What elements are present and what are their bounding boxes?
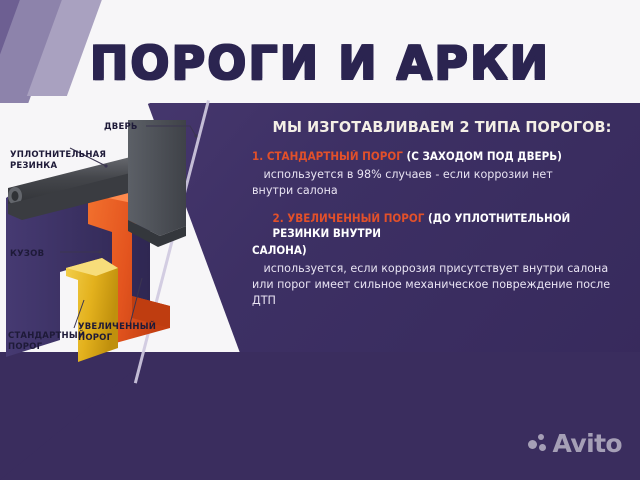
sill-type-2-qualifier-line-2: САЛОНА) — [252, 243, 605, 258]
sill-type-1-body-line-2: внутри салона — [252, 182, 617, 198]
avito-wordmark: Avito — [553, 429, 622, 458]
avito-dots-icon — [528, 434, 548, 454]
poster-root: ПОРОГИ И АРКИ — [0, 0, 640, 480]
sill-type-2-body-line-2: или порог имеет сильное механическое пов… — [252, 276, 617, 292]
sill-type-2-title: 2. УВЕЛИЧЕННЫЙ ПОРОГ (ДО УПЛОТНИТЕЛЬНОЙ … — [252, 211, 605, 241]
sill-type-2-name: 2. УВЕЛИЧЕННЫЙ ПОРОГ — [272, 212, 424, 225]
sill-type-1-qualifier: (С ЗАХОДОМ ПОД ДВЕРЬ) — [406, 150, 561, 163]
sill-type-1-name: 1. СТАНДАРТНЫЙ ПОРОГ — [252, 150, 403, 163]
sill-type-item-1: 1. СТАНДАРТНЫЙ ПОРОГ (С ЗАХОДОМ ПОД ДВЕР… — [252, 149, 632, 198]
diagram-label-rubber-seal: УПЛОТНИТЕЛЬНАЯ РЕЗИНКА — [10, 150, 106, 172]
sill-type-2-body-line-3: ДТП — [252, 292, 617, 308]
sill-type-2-body: используется, если коррозия присутствует… — [252, 260, 617, 308]
diagram-label-standard-sill: СТАНДАРТНЫЙ ПОРОГ — [8, 331, 85, 353]
page-title: ПОРОГИ И АРКИ — [0, 36, 640, 90]
avito-watermark: Avito — [528, 429, 622, 458]
sill-type-2-body-line-1: используется, если коррозия присутствует… — [252, 260, 608, 276]
sill-type-item-2: 2. УВЕЛИЧЕННЫЙ ПОРОГ (ДО УПЛОТНИТЕЛЬНОЙ … — [252, 211, 632, 308]
content-text-block: МЫ ИЗГОТАВЛИВАЕМ 2 ТИПА ПОРОГОВ: 1. СТАН… — [252, 112, 632, 321]
diagram-label-car-body: КУЗОВ — [10, 249, 44, 260]
diagram-label-door: ДВЕРЬ — [104, 122, 138, 133]
diagram-label-extended-sill: УВЕЛИЧЕННЫЙ ПОРОГ — [78, 322, 156, 344]
sill-type-1-body-line-1: используется в 98% случаев - если корроз… — [252, 166, 553, 182]
page-title-text: ПОРОГИ И АРКИ — [90, 36, 550, 90]
content-heading: МЫ ИЗГОТАВЛИВАЕМ 2 ТИПА ПОРОГОВ: — [265, 118, 618, 136]
door-panel-shape — [128, 120, 186, 247]
sill-type-1-title: 1. СТАНДАРТНЫЙ ПОРОГ (С ЗАХОДОМ ПОД ДВЕР… — [252, 149, 605, 164]
sill-type-1-body: используется в 98% случаев - если корроз… — [252, 166, 617, 198]
